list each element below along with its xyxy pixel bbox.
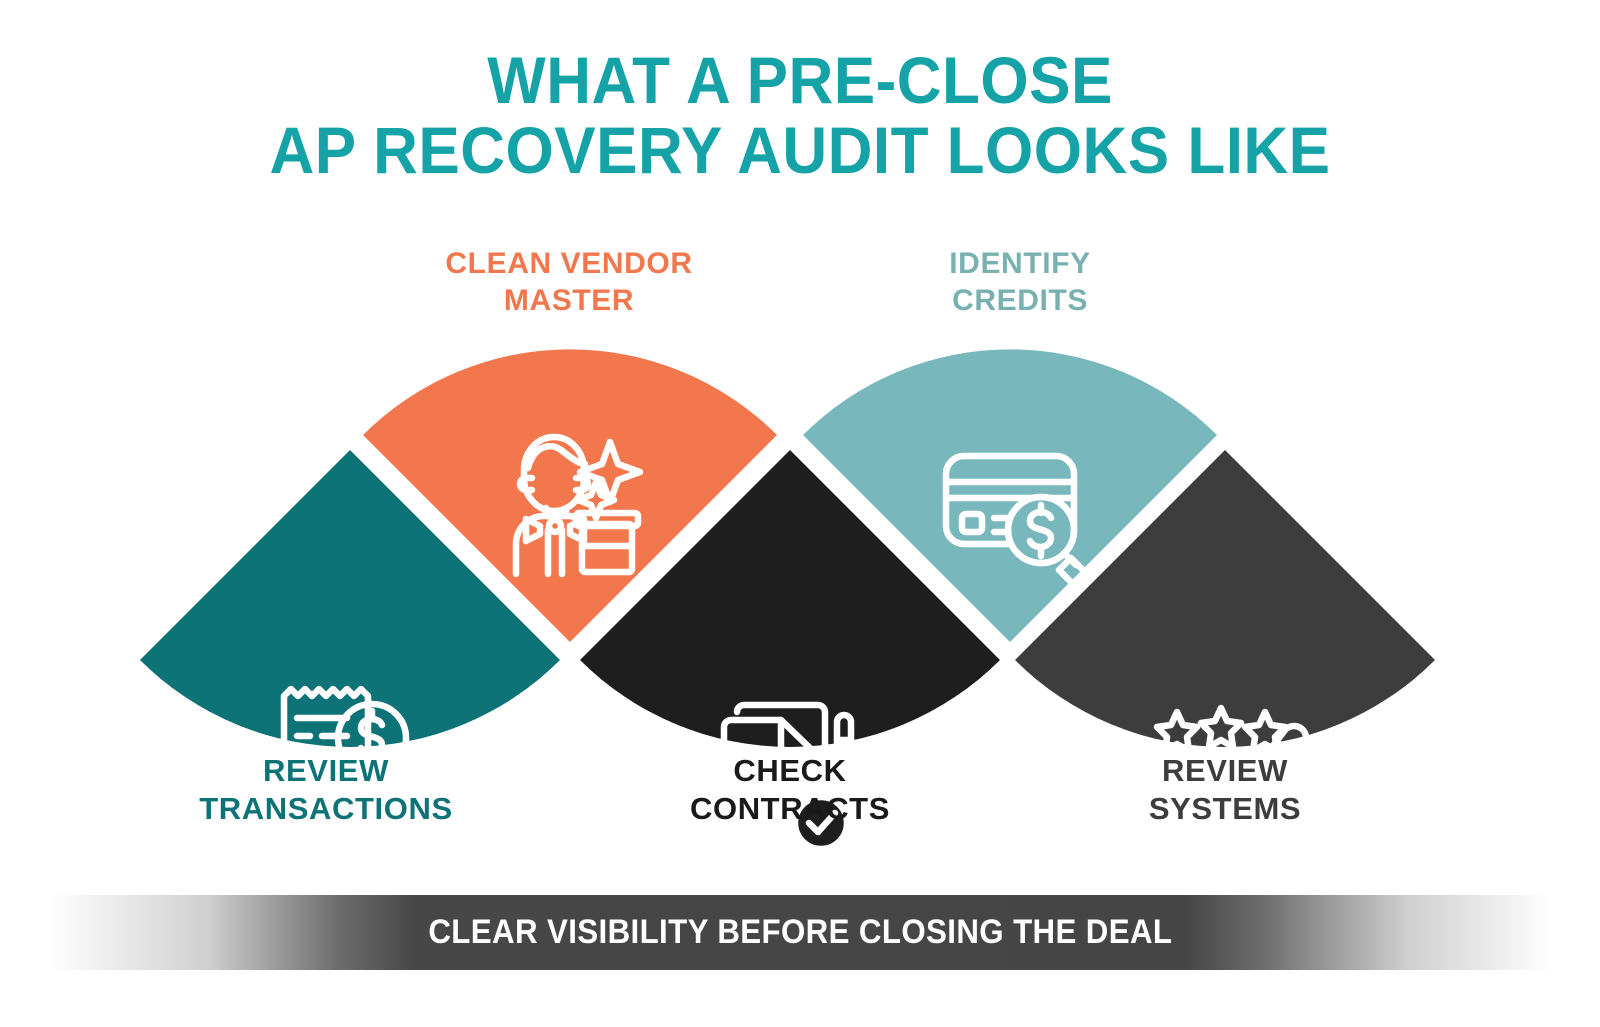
page-title-line-1: WHAT A PRE-CLOSE <box>48 46 1552 116</box>
bottom-banner-text: CLEAR VISIBILITY BEFORE CLOSING THE DEAL <box>428 913 1172 952</box>
bottom-banner: CLEAR VISIBILITY BEFORE CLOSING THE DEAL <box>0 895 1600 970</box>
page-title-line-2: AP RECOVERY AUDIT LOOKS LIKE <box>48 116 1552 186</box>
page-title: WHAT A PRE-CLOSE AP RECOVERY AUDIT LOOKS… <box>0 46 1600 186</box>
label-clean-vendor-master: CLEAN VENDOR MASTER <box>419 246 719 319</box>
label-review-transactions: REVIEW TRANSACTIONS <box>156 752 496 828</box>
label-identify-credits: IDENTIFY CREDITS <box>870 246 1170 319</box>
label-review-systems: REVIEW SYSTEMS <box>1055 752 1395 828</box>
label-check-contracts: CHECK CONTRACTS <box>620 752 960 828</box>
